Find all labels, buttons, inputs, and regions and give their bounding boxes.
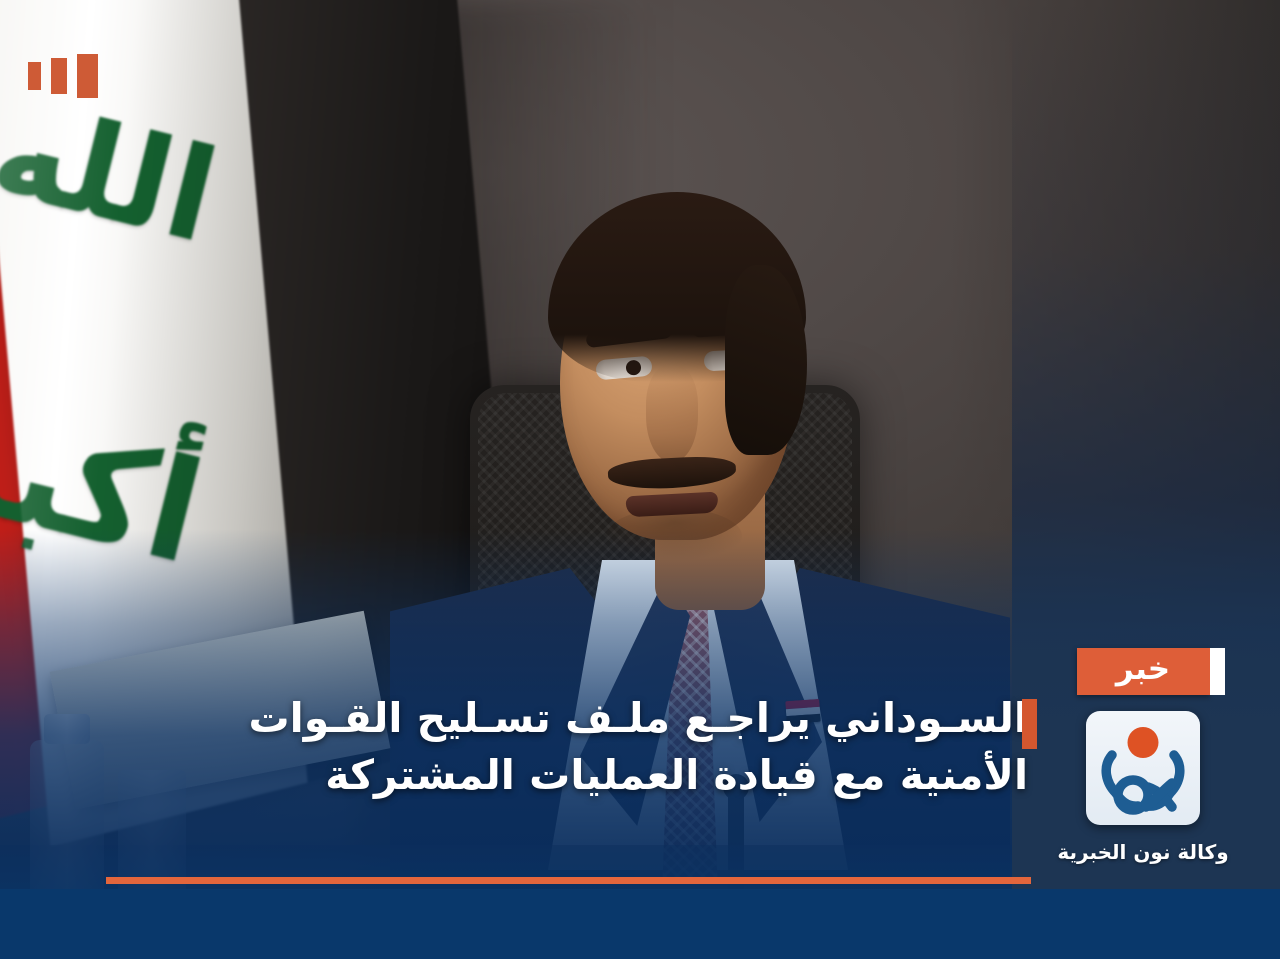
headline-line-2: الأمنية مع قيادة العمليات المشتركة: [88, 747, 1028, 804]
corner-bar-1: [77, 54, 98, 98]
noon-agency-logo[interactable]: [1086, 711, 1200, 825]
headline: السـوداني يراجـع ملـف تسـليح القـوات الأ…: [88, 690, 1028, 803]
logo-figure-icon: [1086, 711, 1200, 825]
headline-underline: [106, 877, 1031, 884]
news-card: الله أكبر: [0, 0, 1280, 959]
headline-line-1: السـوداني يراجـع ملـف تسـليح القـوات: [88, 690, 1028, 747]
corner-bar-2: [51, 58, 67, 94]
bottom-navy-band: [0, 889, 1280, 959]
brand-block: خبر وكالة نون الخبرية: [1030, 648, 1256, 864]
corner-bar-3: [28, 62, 41, 90]
news-badge-label: خبر: [1116, 654, 1170, 685]
agency-name: وكالة نون الخبرية: [1057, 840, 1228, 864]
corner-bars-decoration: [28, 54, 98, 98]
news-badge-white-tick: [1210, 648, 1225, 695]
news-badge[interactable]: خبر: [1077, 648, 1210, 695]
